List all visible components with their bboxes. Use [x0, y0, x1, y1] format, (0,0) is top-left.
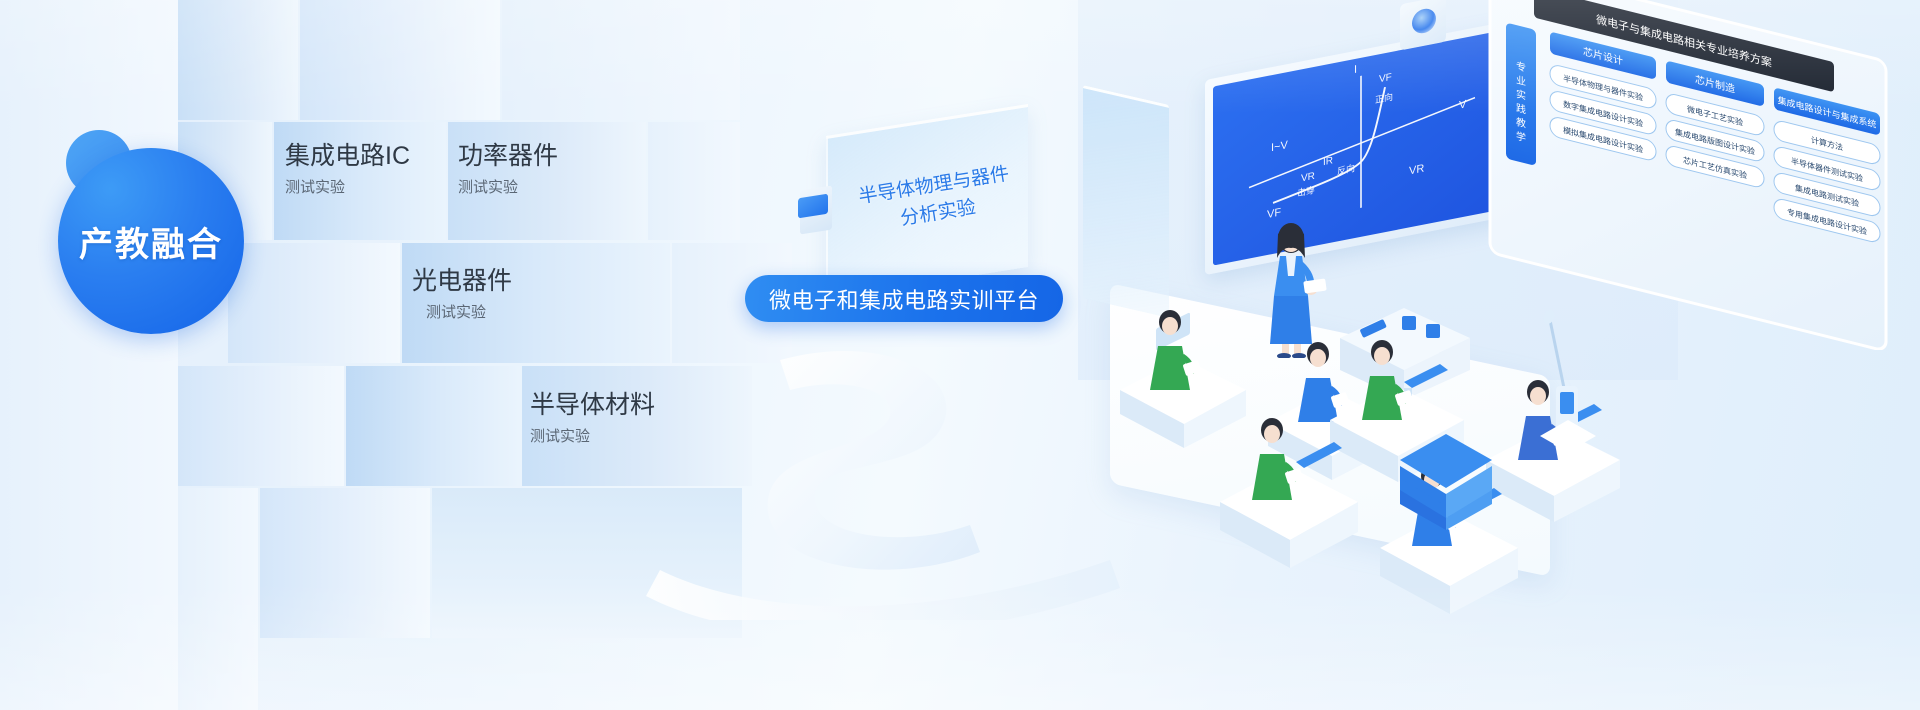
- experiment-label-power-device: 功率器件 测试实验: [458, 142, 558, 197]
- iv-label-voltage: V: [1459, 98, 1467, 111]
- decor-tile: [300, 0, 500, 120]
- experiment-label-optoelectronic-device: 光电器件 测试实验: [412, 267, 512, 322]
- banner-canvas: 产教融合 集成电路IC 测试实验 功率器件 测试实验 光电器件 测试实验 半导体…: [0, 0, 1920, 710]
- iv-label-reverse: 反向: [1337, 162, 1355, 176]
- iv-label-curve: I~V: [1271, 139, 1288, 154]
- iv-label-vr-axis: VR: [1409, 163, 1424, 178]
- badge-label: 产教融合: [79, 217, 223, 266]
- iv-label-vr-left: VR: [1301, 171, 1315, 185]
- experiment-subtitle: 测试实验: [285, 179, 410, 197]
- iv-label-forward: 正向: [1375, 91, 1393, 105]
- experiment-subtitle: 测试实验: [426, 304, 512, 322]
- decor-tile: [178, 488, 258, 710]
- student-desk: [1220, 442, 1358, 568]
- teacher-figure: [1258, 218, 1328, 358]
- decor-tile: [178, 366, 344, 486]
- badge-circle: 产教融合: [58, 148, 244, 334]
- decor-tile: [648, 122, 740, 240]
- side-tab-c2: 业: [1516, 74, 1526, 88]
- experiment-subtitle: 测试实验: [530, 428, 655, 446]
- platform-pill-label: 微电子和集成电路实训平台: [769, 283, 1039, 315]
- decor-tile: [0, 0, 178, 710]
- decor-tile: [502, 0, 740, 120]
- badge-group: 产教融合: [46, 130, 296, 320]
- iv-label-breakdown: 击穿: [1297, 184, 1315, 198]
- org-chart-side-tab: 专 业 实 践 教 学: [1506, 22, 1536, 165]
- experiment-title: 半导体材料: [530, 391, 655, 421]
- experiment-title: 功率器件: [458, 142, 558, 172]
- platform-pill-badge[interactable]: 微电子和集成电路实训平台: [745, 275, 1063, 322]
- experiment-subtitle: 测试实验: [458, 179, 558, 197]
- experiment-title: 集成电路IC: [285, 142, 410, 172]
- experiment-label-semiconductor-material: 半导体材料 测试实验: [530, 391, 655, 446]
- iv-label-ir: IR: [1323, 155, 1333, 168]
- monitor-icon: [1296, 442, 1342, 468]
- iv-label-current: I: [1354, 64, 1357, 76]
- experiment-label-ic: 集成电路IC 测试实验: [285, 142, 410, 197]
- experiment-title: 光电器件: [412, 267, 512, 297]
- microphone-stand: [1520, 300, 1610, 470]
- decor-tile: [346, 366, 520, 486]
- decor-tile: [260, 488, 430, 638]
- iv-label-vf-top: VF: [1379, 72, 1392, 85]
- decor-tile: [178, 0, 298, 120]
